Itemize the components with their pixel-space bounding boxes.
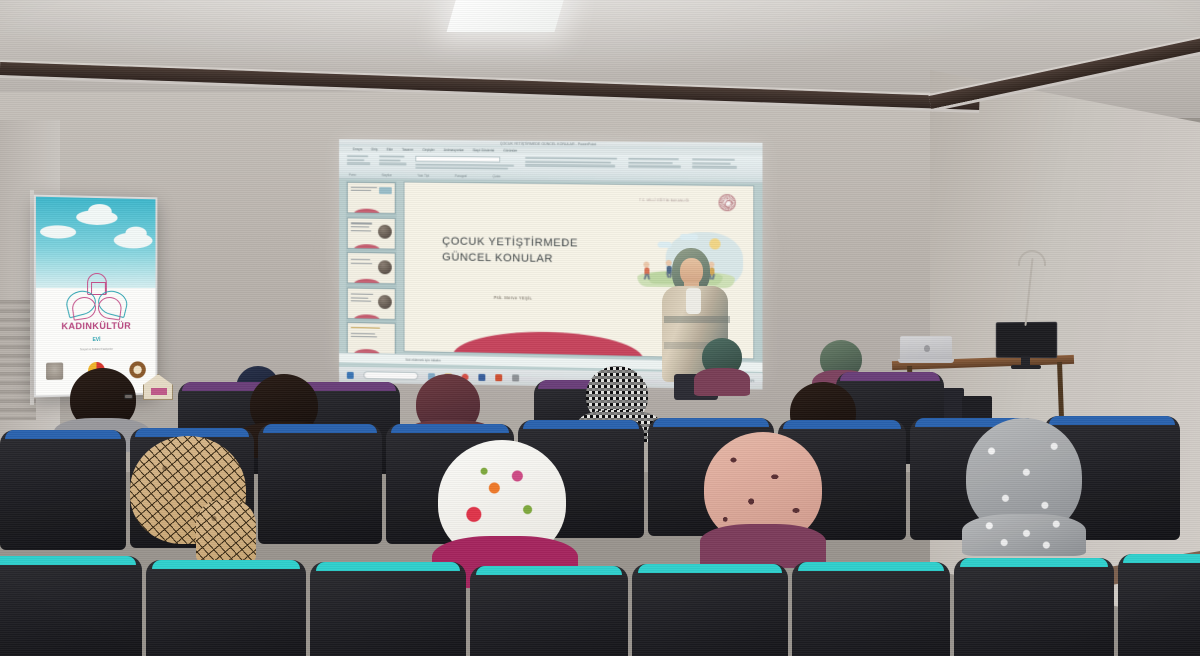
ribbon-group-paragraph[interactable]: [525, 157, 621, 171]
slide-thumbnail-content[interactable]: [347, 287, 396, 320]
tab-dosya[interactable]: Dosya: [353, 147, 362, 151]
seat-front-3[interactable]: [310, 562, 466, 656]
ribbon-label-cizim: Çizim: [493, 174, 501, 178]
slide-title-line1: ÇOCUK YETİŞTİRMEDE: [442, 235, 578, 253]
tab-giris[interactable]: Giriş: [371, 147, 378, 151]
ribbon-label-slaytlar: Slaytlar: [381, 173, 391, 177]
seat-front-5[interactable]: [632, 564, 788, 656]
kadinkultur-banner: KADINKÜLTÜR EVİ Sosyal ve Kültürel Faali…: [34, 195, 157, 398]
ceiling-light-panel: [447, 0, 566, 32]
slide-title-line2: GÜNCEL KONULAR: [442, 250, 578, 268]
apple-logo-icon: [924, 345, 930, 352]
seat-front-8[interactable]: [1118, 554, 1200, 656]
kadinkultur-logo-icon: [66, 271, 127, 321]
presenter-face: [680, 258, 703, 285]
ribbon-controls: [347, 155, 756, 172]
seat-front-4[interactable]: [470, 566, 628, 656]
presenter-inner-top: [686, 288, 701, 314]
slide-thumbnail-content[interactable]: [347, 322, 396, 355]
seat-mid-1[interactable]: [0, 430, 126, 550]
seat-front-2[interactable]: [146, 560, 306, 656]
taskbar-tray-text: TR: [749, 379, 754, 383]
slide-subtitle: Psk. Merve YEŞİL: [494, 295, 532, 301]
seat-front-7[interactable]: [954, 558, 1114, 656]
ribbon-group-slides[interactable]: [379, 155, 408, 169]
ribbon-group-drawing[interactable]: [628, 158, 685, 172]
tab-ekle[interactable]: Ekle: [386, 148, 392, 152]
tab-gecisler[interactable]: Geçişler: [422, 148, 434, 152]
ribbon-group-font[interactable]: [415, 156, 518, 170]
ribbon-label-pano: Pano: [349, 173, 356, 177]
ribbon-group-editing[interactable]: [692, 158, 741, 172]
attendee-brown-patterned-scarf: [120, 436, 256, 562]
tab-animasyonlar[interactable]: Animasyonlar: [444, 148, 464, 152]
tab-tasarim[interactable]: Tasarım: [402, 148, 414, 152]
seat-mid-3[interactable]: [258, 424, 382, 544]
slide-thumbnail-title[interactable]: [347, 182, 396, 214]
macbook-laptop[interactable]: [898, 336, 954, 362]
tab-slayt-gosterisi[interactable]: Slayt Gösterisi: [473, 148, 495, 152]
attendee-pink-leopard-scarf: [700, 432, 830, 562]
media-icon[interactable]: [512, 374, 519, 381]
seat-front-6[interactable]: [792, 562, 950, 656]
windows-start-icon[interactable]: [347, 371, 354, 378]
tab-gorunum[interactable]: Görünüm: [503, 149, 517, 153]
attendee-gray-patterned-scarf: [962, 418, 1090, 554]
powerpoint-icon[interactable]: [495, 374, 502, 381]
ribbon-group-clipboard[interactable]: [347, 155, 372, 168]
desktop-monitor[interactable]: [995, 322, 1057, 366]
seat-front-1[interactable]: [0, 556, 142, 656]
slide-brand-text: T.C. MİLLÎ EĞİTİM BAKANLIĞI: [639, 198, 689, 203]
screenshot-root: ÇOCUK YETİŞTİRMEDE GÜNCEL KONULAR - Powe…: [0, 0, 1200, 656]
slide-thumbnail-content[interactable]: [347, 217, 396, 249]
ribbon-label-yazitipi: Yazı Tipi: [417, 174, 429, 178]
slide-thumbnail-pane[interactable]: [346, 181, 397, 361]
slide-thumbnail-content[interactable]: [347, 252, 396, 284]
banner-title: KADINKÜLTÜR: [36, 321, 156, 332]
attendee-floral-scarf: [432, 440, 592, 580]
slide-title: ÇOCUK YETİŞTİRMEDE GÜNCEL KONULAR: [442, 235, 578, 269]
ribbon-label-paragraf: Paragraf: [455, 174, 467, 178]
meb-emblem-icon: [718, 194, 735, 211]
attendee-teal-scarf: [694, 338, 750, 396]
